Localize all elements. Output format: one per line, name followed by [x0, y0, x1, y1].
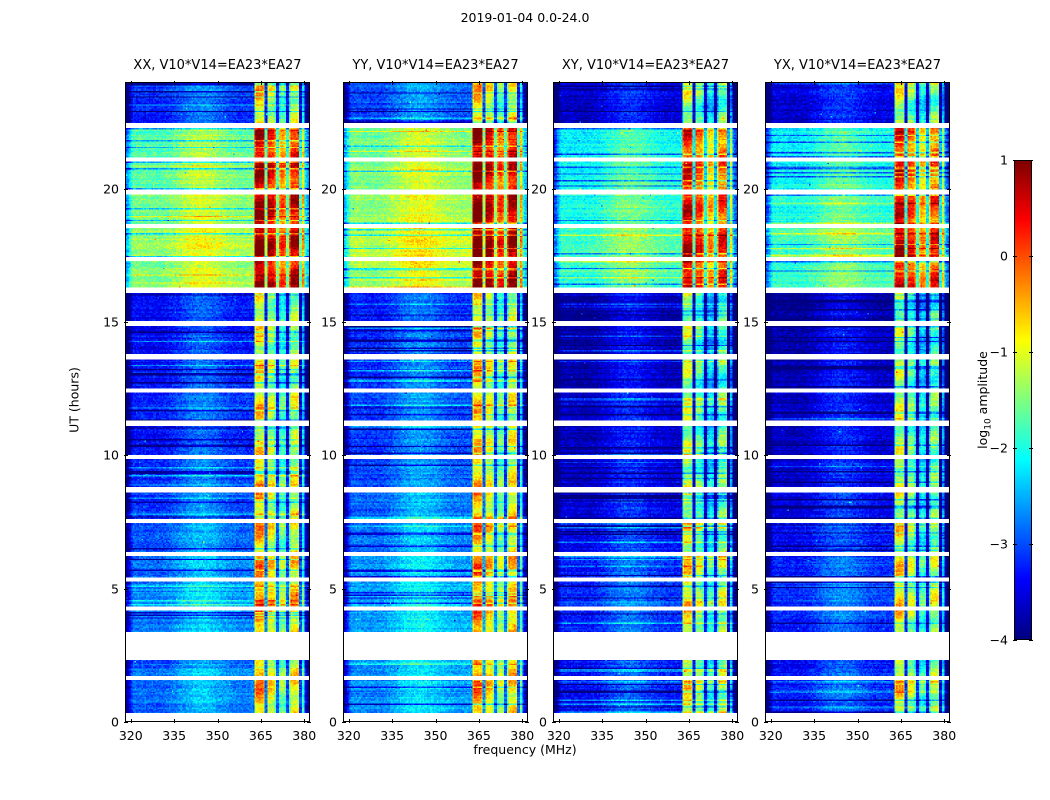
y-axis-tick-label: 15 — [531, 315, 547, 330]
figure-suptitle: 2019-01-04 0.0-24.0 — [0, 10, 1050, 25]
y-axis-tick — [947, 589, 951, 590]
y-axis-tick-label: 0 — [111, 715, 119, 730]
x-axis-tick — [732, 81, 733, 85]
colorbar-tick — [1029, 256, 1033, 257]
x-axis-tick — [349, 81, 350, 85]
y-axis-tick-label: 20 — [531, 181, 547, 196]
y-axis-tick-label: 10 — [743, 448, 759, 463]
colorbar-label-prefix: log — [975, 430, 990, 449]
y-axis-tick — [552, 455, 556, 456]
x-axis-label: frequency (MHz) — [0, 742, 1050, 757]
colorbar-tick — [1013, 640, 1017, 641]
x-axis-tick — [522, 81, 523, 85]
y-axis-tick-label: 15 — [103, 315, 119, 330]
y-axis-tick — [124, 589, 128, 590]
y-axis-tick — [525, 189, 529, 190]
x-axis-tick-label: 350 — [846, 728, 870, 743]
colorbar-tick — [1029, 640, 1033, 641]
colorbar-label-subscript: 10 — [983, 418, 993, 429]
y-axis-tick — [947, 189, 951, 190]
x-axis-tick-label: 350 — [206, 728, 230, 743]
x-axis-tick — [944, 81, 945, 85]
x-axis-tick-label: 320 — [119, 728, 143, 743]
x-axis-tick-label: 320 — [547, 728, 571, 743]
x-axis-tick — [479, 81, 480, 85]
y-axis-tick — [947, 322, 951, 323]
x-axis-tick-label: 335 — [802, 728, 826, 743]
figure-canvas: 2019-01-04 0.0-24.0 XX, V10*V14=EA23*EA2… — [0, 0, 1050, 800]
x-axis-tick — [479, 719, 480, 723]
y-axis-tick — [307, 455, 311, 456]
y-axis-tick — [764, 722, 768, 723]
y-axis-tick — [735, 189, 739, 190]
x-axis-tick — [436, 719, 437, 723]
y-axis-tick — [735, 722, 739, 723]
colorbar-container[interactable]: −4−3−2−101 — [1014, 160, 1032, 640]
y-axis-tick-label: 15 — [743, 315, 759, 330]
waterfall-pixels — [126, 83, 309, 721]
y-axis-tick — [525, 455, 529, 456]
x-axis-tick — [304, 81, 305, 85]
y-axis-tick-label: 10 — [321, 448, 337, 463]
y-axis-tick — [342, 722, 346, 723]
x-axis-tick — [944, 719, 945, 723]
colorbar-label-suffix: amplitude — [975, 351, 990, 418]
x-axis-tick-label: 365 — [249, 728, 273, 743]
y-axis-tick — [552, 322, 556, 323]
x-axis-tick — [174, 81, 175, 85]
y-axis-tick — [525, 722, 529, 723]
colorbar-tick — [1013, 160, 1017, 161]
x-axis-tick — [602, 81, 603, 85]
x-axis-tick-label: 365 — [467, 728, 491, 743]
y-axis-tick-label: 5 — [329, 581, 337, 596]
y-axis-tick-label: 10 — [103, 448, 119, 463]
y-axis-tick — [764, 455, 768, 456]
x-axis-tick — [901, 719, 902, 723]
y-axis-tick — [947, 455, 951, 456]
x-axis-tick — [436, 81, 437, 85]
y-axis-tick — [124, 322, 128, 323]
colorbar-tick-label: −3 — [990, 537, 1008, 552]
x-axis-tick — [522, 719, 523, 723]
colorbar-tick — [1029, 544, 1033, 545]
y-axis-tick — [307, 189, 311, 190]
colorbar-tick — [1029, 160, 1033, 161]
colorbar-tick-label: 1 — [1000, 153, 1008, 168]
x-axis-tick — [261, 719, 262, 723]
x-axis-tick — [174, 719, 175, 723]
y-axis-tick-label: 15 — [321, 315, 337, 330]
colorbar-tick — [1013, 256, 1017, 257]
x-axis-tick — [771, 719, 772, 723]
waterfall-pixels — [554, 83, 737, 721]
x-axis-tick — [349, 719, 350, 723]
x-axis-tick — [392, 719, 393, 723]
x-axis-tick — [646, 81, 647, 85]
y-axis-tick — [552, 189, 556, 190]
y-axis-tick-label: 20 — [743, 181, 759, 196]
y-axis-tick — [525, 322, 529, 323]
x-axis-tick-label: 380 — [932, 728, 956, 743]
x-axis-tick-label: 335 — [162, 728, 186, 743]
colorbar-pixels — [1015, 161, 1031, 639]
colorbar-label: log10 amplitude — [975, 351, 994, 449]
waterfall-panel-xx[interactable]: XX, V10*V14=EA23*EA27 320335350365380051… — [125, 82, 310, 722]
x-axis-tick — [771, 81, 772, 85]
panel-title-xy: XY, V10*V14=EA23*EA27 — [553, 58, 738, 73]
panel-title-yx: YX, V10*V14=EA23*EA27 — [765, 58, 950, 73]
colorbar-gradient — [1014, 160, 1032, 640]
colorbar-tick — [1029, 352, 1033, 353]
y-axis-tick — [307, 589, 311, 590]
y-axis-tick — [525, 589, 529, 590]
waterfall-panel-yy[interactable]: YY, V10*V14=EA23*EA27 320335350365380051… — [343, 82, 528, 722]
y-axis-tick — [764, 189, 768, 190]
y-axis-tick — [307, 322, 311, 323]
colorbar-tick — [1013, 352, 1017, 353]
y-axis-tick-label: 10 — [531, 448, 547, 463]
y-axis-tick — [947, 722, 951, 723]
waterfall-pixels — [766, 83, 949, 721]
x-axis-tick — [218, 719, 219, 723]
colorbar-tick-label: −4 — [990, 633, 1008, 648]
y-axis-tick — [552, 589, 556, 590]
y-axis-tick-label: 5 — [539, 581, 547, 596]
waterfall-panel-yx[interactable]: YX, V10*V14=EA23*EA27 320335350365380051… — [765, 82, 950, 722]
x-axis-tick — [858, 719, 859, 723]
x-axis-tick — [392, 81, 393, 85]
y-axis-tick — [124, 189, 128, 190]
waterfall-image-xy[interactable] — [553, 82, 738, 722]
x-axis-tick-label: 365 — [677, 728, 701, 743]
y-axis-tick — [764, 322, 768, 323]
y-axis-tick — [124, 455, 128, 456]
y-axis-tick-label: 5 — [751, 581, 759, 596]
waterfall-image-xx[interactable] — [125, 82, 310, 722]
y-axis-tick — [735, 455, 739, 456]
x-axis-tick — [559, 81, 560, 85]
x-axis-tick-label: 320 — [759, 728, 783, 743]
y-axis-tick-label: 20 — [103, 181, 119, 196]
x-axis-tick — [218, 81, 219, 85]
y-axis-tick-label: 0 — [329, 715, 337, 730]
x-axis-tick-label: 380 — [510, 728, 534, 743]
x-axis-tick — [858, 81, 859, 85]
y-axis-tick — [342, 589, 346, 590]
panel-title-yy: YY, V10*V14=EA23*EA27 — [343, 58, 528, 73]
y-axis-tick — [342, 455, 346, 456]
x-axis-tick-label: 350 — [424, 728, 448, 743]
y-axis-tick — [342, 322, 346, 323]
colorbar-tick — [1029, 448, 1033, 449]
x-axis-tick-label: 365 — [889, 728, 913, 743]
y-axis-tick — [552, 722, 556, 723]
waterfall-image-yy[interactable] — [343, 82, 528, 722]
y-axis-tick — [124, 722, 128, 723]
x-axis-tick-label: 380 — [292, 728, 316, 743]
y-axis-tick-label: 0 — [751, 715, 759, 730]
colorbar-tick-label: 0 — [1000, 249, 1008, 264]
x-axis-tick — [814, 81, 815, 85]
colorbar-tick — [1013, 544, 1017, 545]
x-axis-tick — [131, 719, 132, 723]
x-axis-tick — [261, 81, 262, 85]
y-axis-label: UT (hours) — [67, 367, 82, 433]
x-axis-tick — [131, 81, 132, 85]
x-axis-tick — [689, 81, 690, 85]
x-axis-tick — [559, 719, 560, 723]
x-axis-tick — [304, 719, 305, 723]
x-axis-tick-label: 380 — [720, 728, 744, 743]
x-axis-tick-label: 320 — [337, 728, 361, 743]
colorbar-tick — [1013, 448, 1017, 449]
y-axis-tick-label: 20 — [321, 181, 337, 196]
y-axis-tick — [764, 589, 768, 590]
x-axis-tick — [689, 719, 690, 723]
x-axis-tick — [646, 719, 647, 723]
waterfall-pixels — [344, 83, 527, 721]
x-axis-tick — [602, 719, 603, 723]
y-axis-tick-label: 0 — [539, 715, 547, 730]
y-axis-tick — [307, 722, 311, 723]
x-axis-tick-label: 335 — [380, 728, 404, 743]
waterfall-panel-xy[interactable]: XY, V10*V14=EA23*EA27 320335350365380051… — [553, 82, 738, 722]
panel-title-xx: XX, V10*V14=EA23*EA27 — [125, 58, 310, 73]
x-axis-tick-label: 335 — [590, 728, 614, 743]
y-axis-tick — [735, 322, 739, 323]
waterfall-image-yx[interactable] — [765, 82, 950, 722]
x-axis-tick — [732, 719, 733, 723]
y-axis-tick — [342, 189, 346, 190]
x-axis-tick — [901, 81, 902, 85]
x-axis-tick-label: 350 — [634, 728, 658, 743]
y-axis-tick-label: 5 — [111, 581, 119, 596]
y-axis-tick — [735, 589, 739, 590]
x-axis-tick — [814, 719, 815, 723]
